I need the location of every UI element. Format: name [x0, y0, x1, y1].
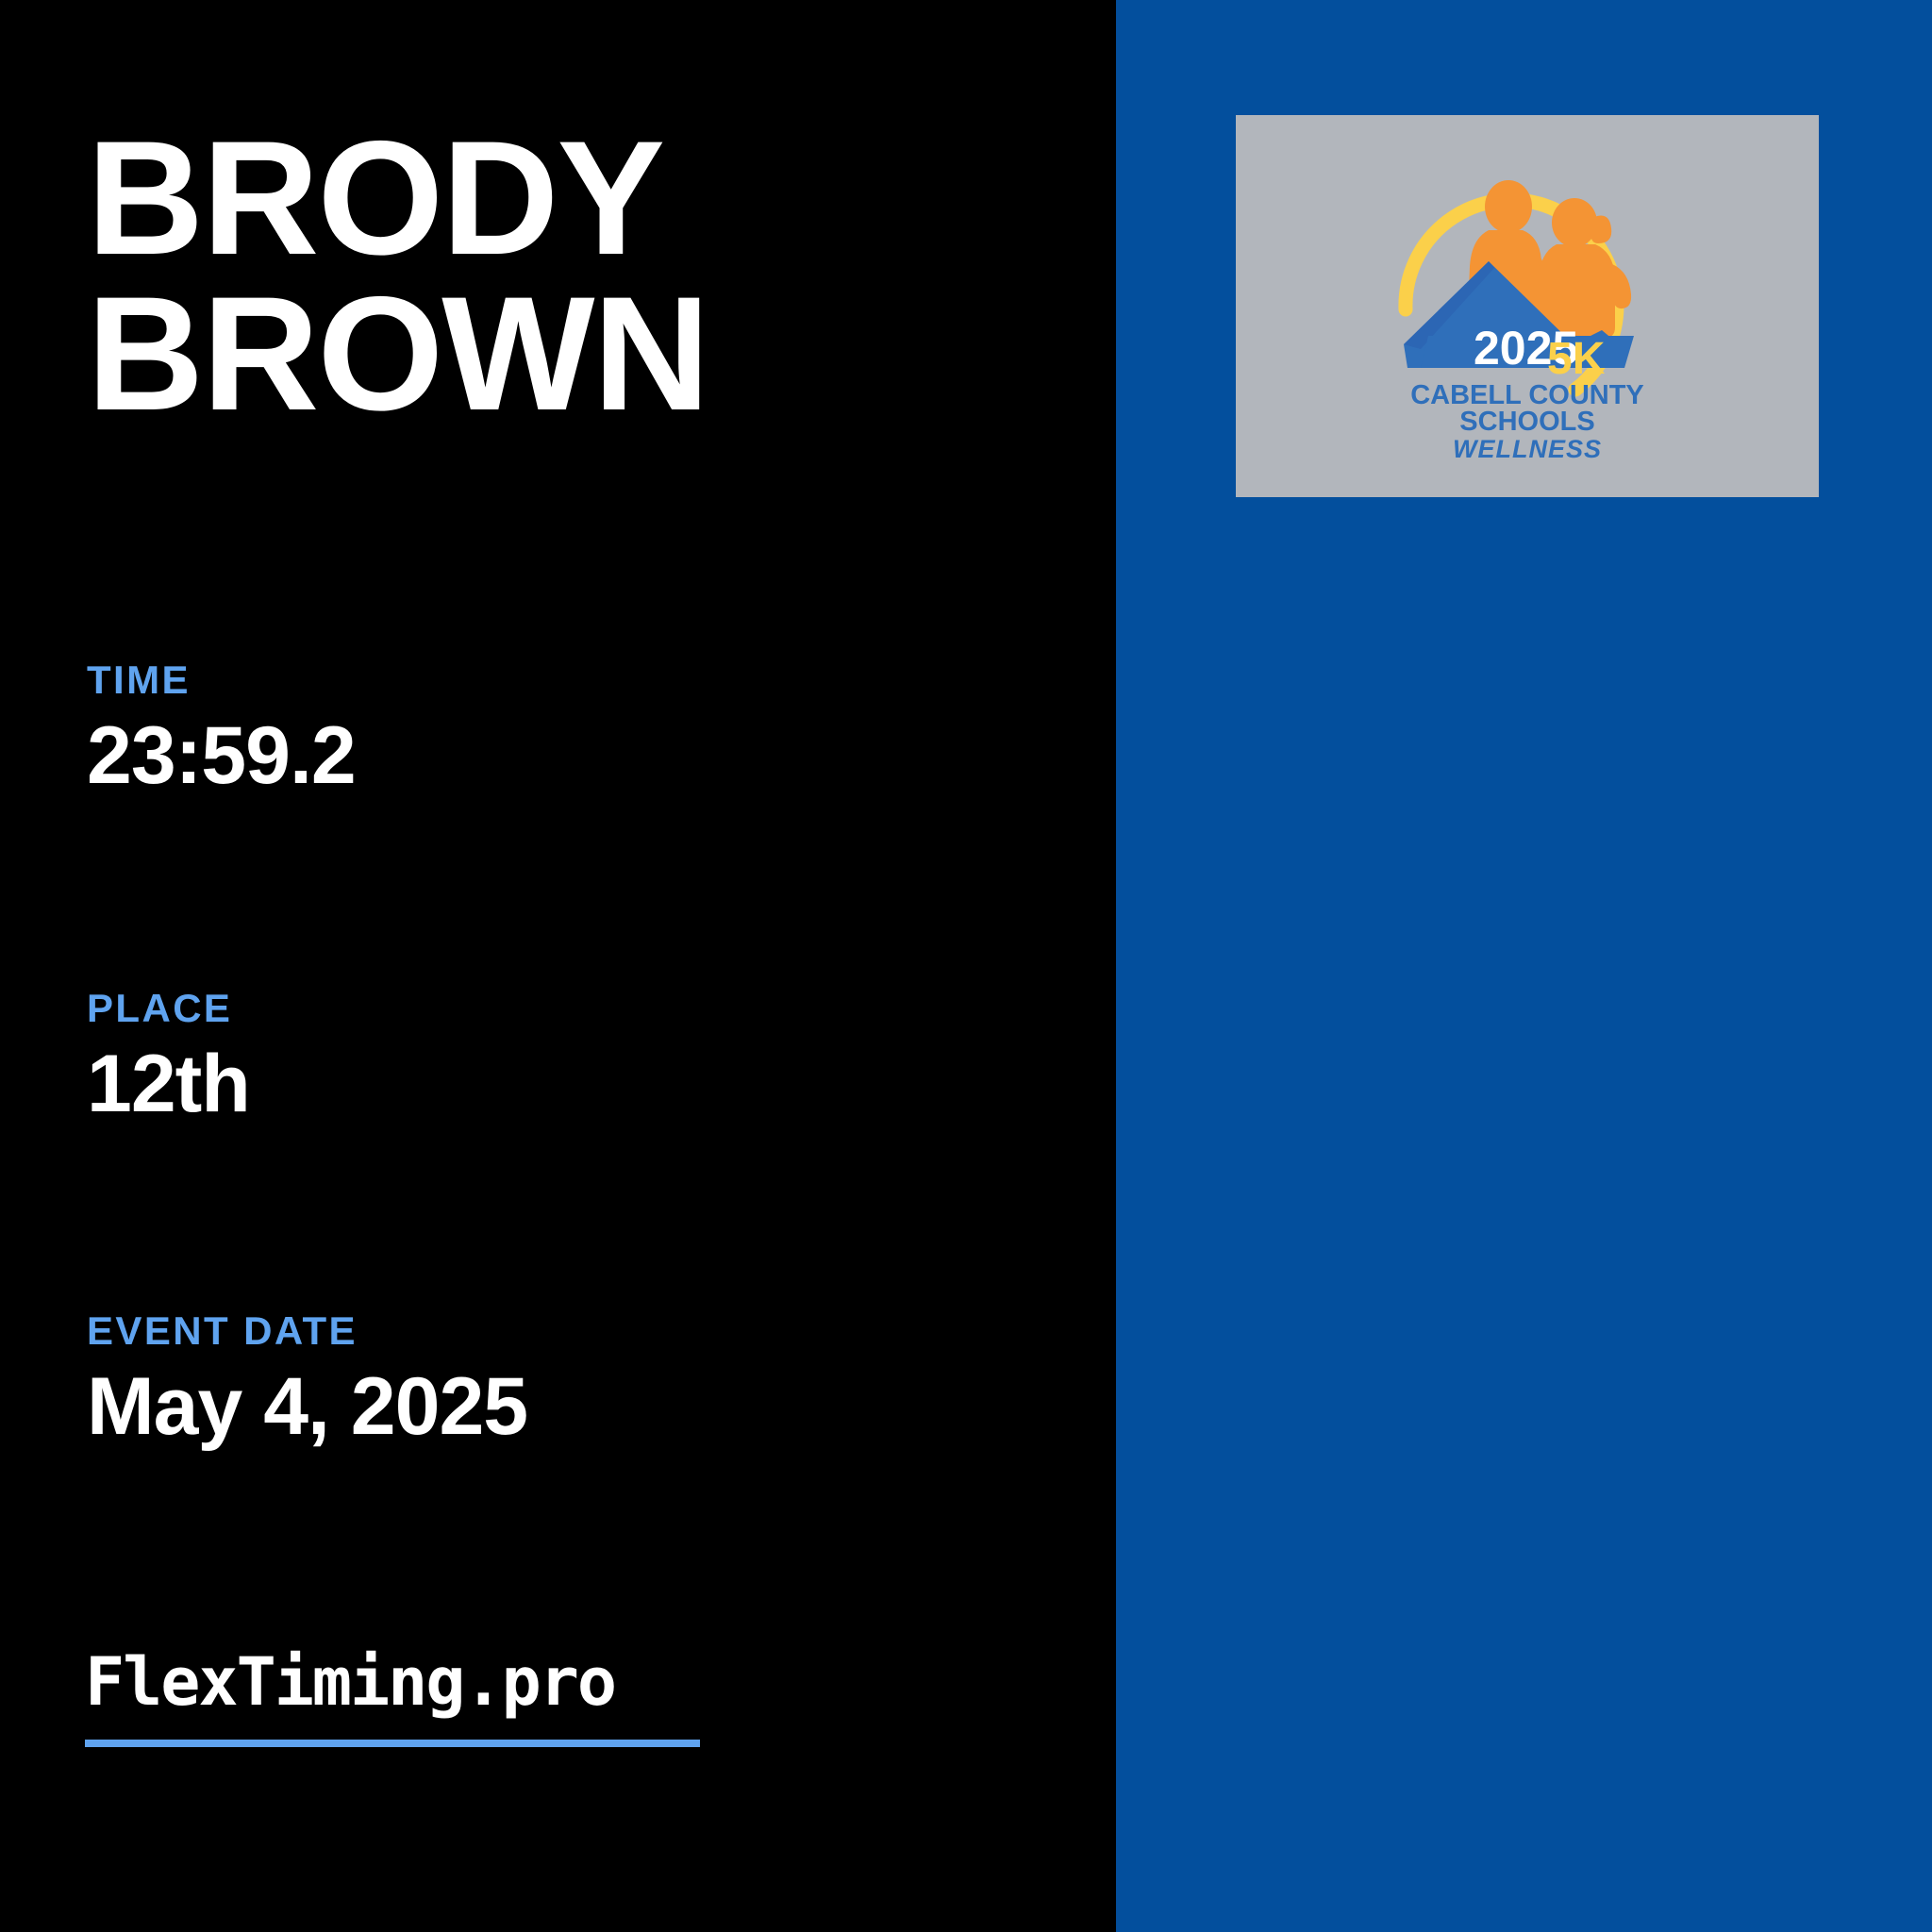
stat-block-event-date: EVENT DATE May 4, 2025	[87, 1311, 527, 1449]
athlete-name: BRODY BROWN	[87, 121, 1030, 432]
left-info-panel: BRODY BROWN TIME 23:59.2 PLACE 12th EVEN…	[0, 0, 1116, 1932]
event-logo-artwork: 2025 5K CABELL COUNTY SCHOOLS WELLNESS	[1372, 151, 1683, 462]
stat-value-event-date: May 4, 2025	[87, 1364, 527, 1449]
flextiming-wordmark[interactable]: FlexTiming.pro	[85, 1649, 700, 1715]
stat-label-event-date: EVENT DATE	[87, 1311, 527, 1351]
stat-block-place: PLACE 12th	[87, 989, 250, 1126]
logo-distance-text: 5K	[1547, 334, 1606, 384]
race-result-card: BRODY BROWN TIME 23:59.2 PLACE 12th EVEN…	[0, 0, 1932, 1932]
stat-value-time: 23:59.2	[87, 713, 356, 798]
stat-value-place: 12th	[87, 1041, 250, 1126]
brand-footer[interactable]: FlexTiming.pro	[85, 1649, 700, 1747]
stat-label-place: PLACE	[87, 989, 250, 1028]
stat-block-time: TIME 23:59.2	[87, 660, 356, 798]
brand-underline-rule	[85, 1740, 700, 1747]
logo-tagline: WELLNESS	[1453, 435, 1602, 462]
logo-org-line-2: SCHOOLS	[1459, 407, 1594, 437]
stat-label-time: TIME	[87, 660, 356, 700]
event-logo-card: 2025 5K CABELL COUNTY SCHOOLS WELLNESS	[1236, 115, 1819, 497]
